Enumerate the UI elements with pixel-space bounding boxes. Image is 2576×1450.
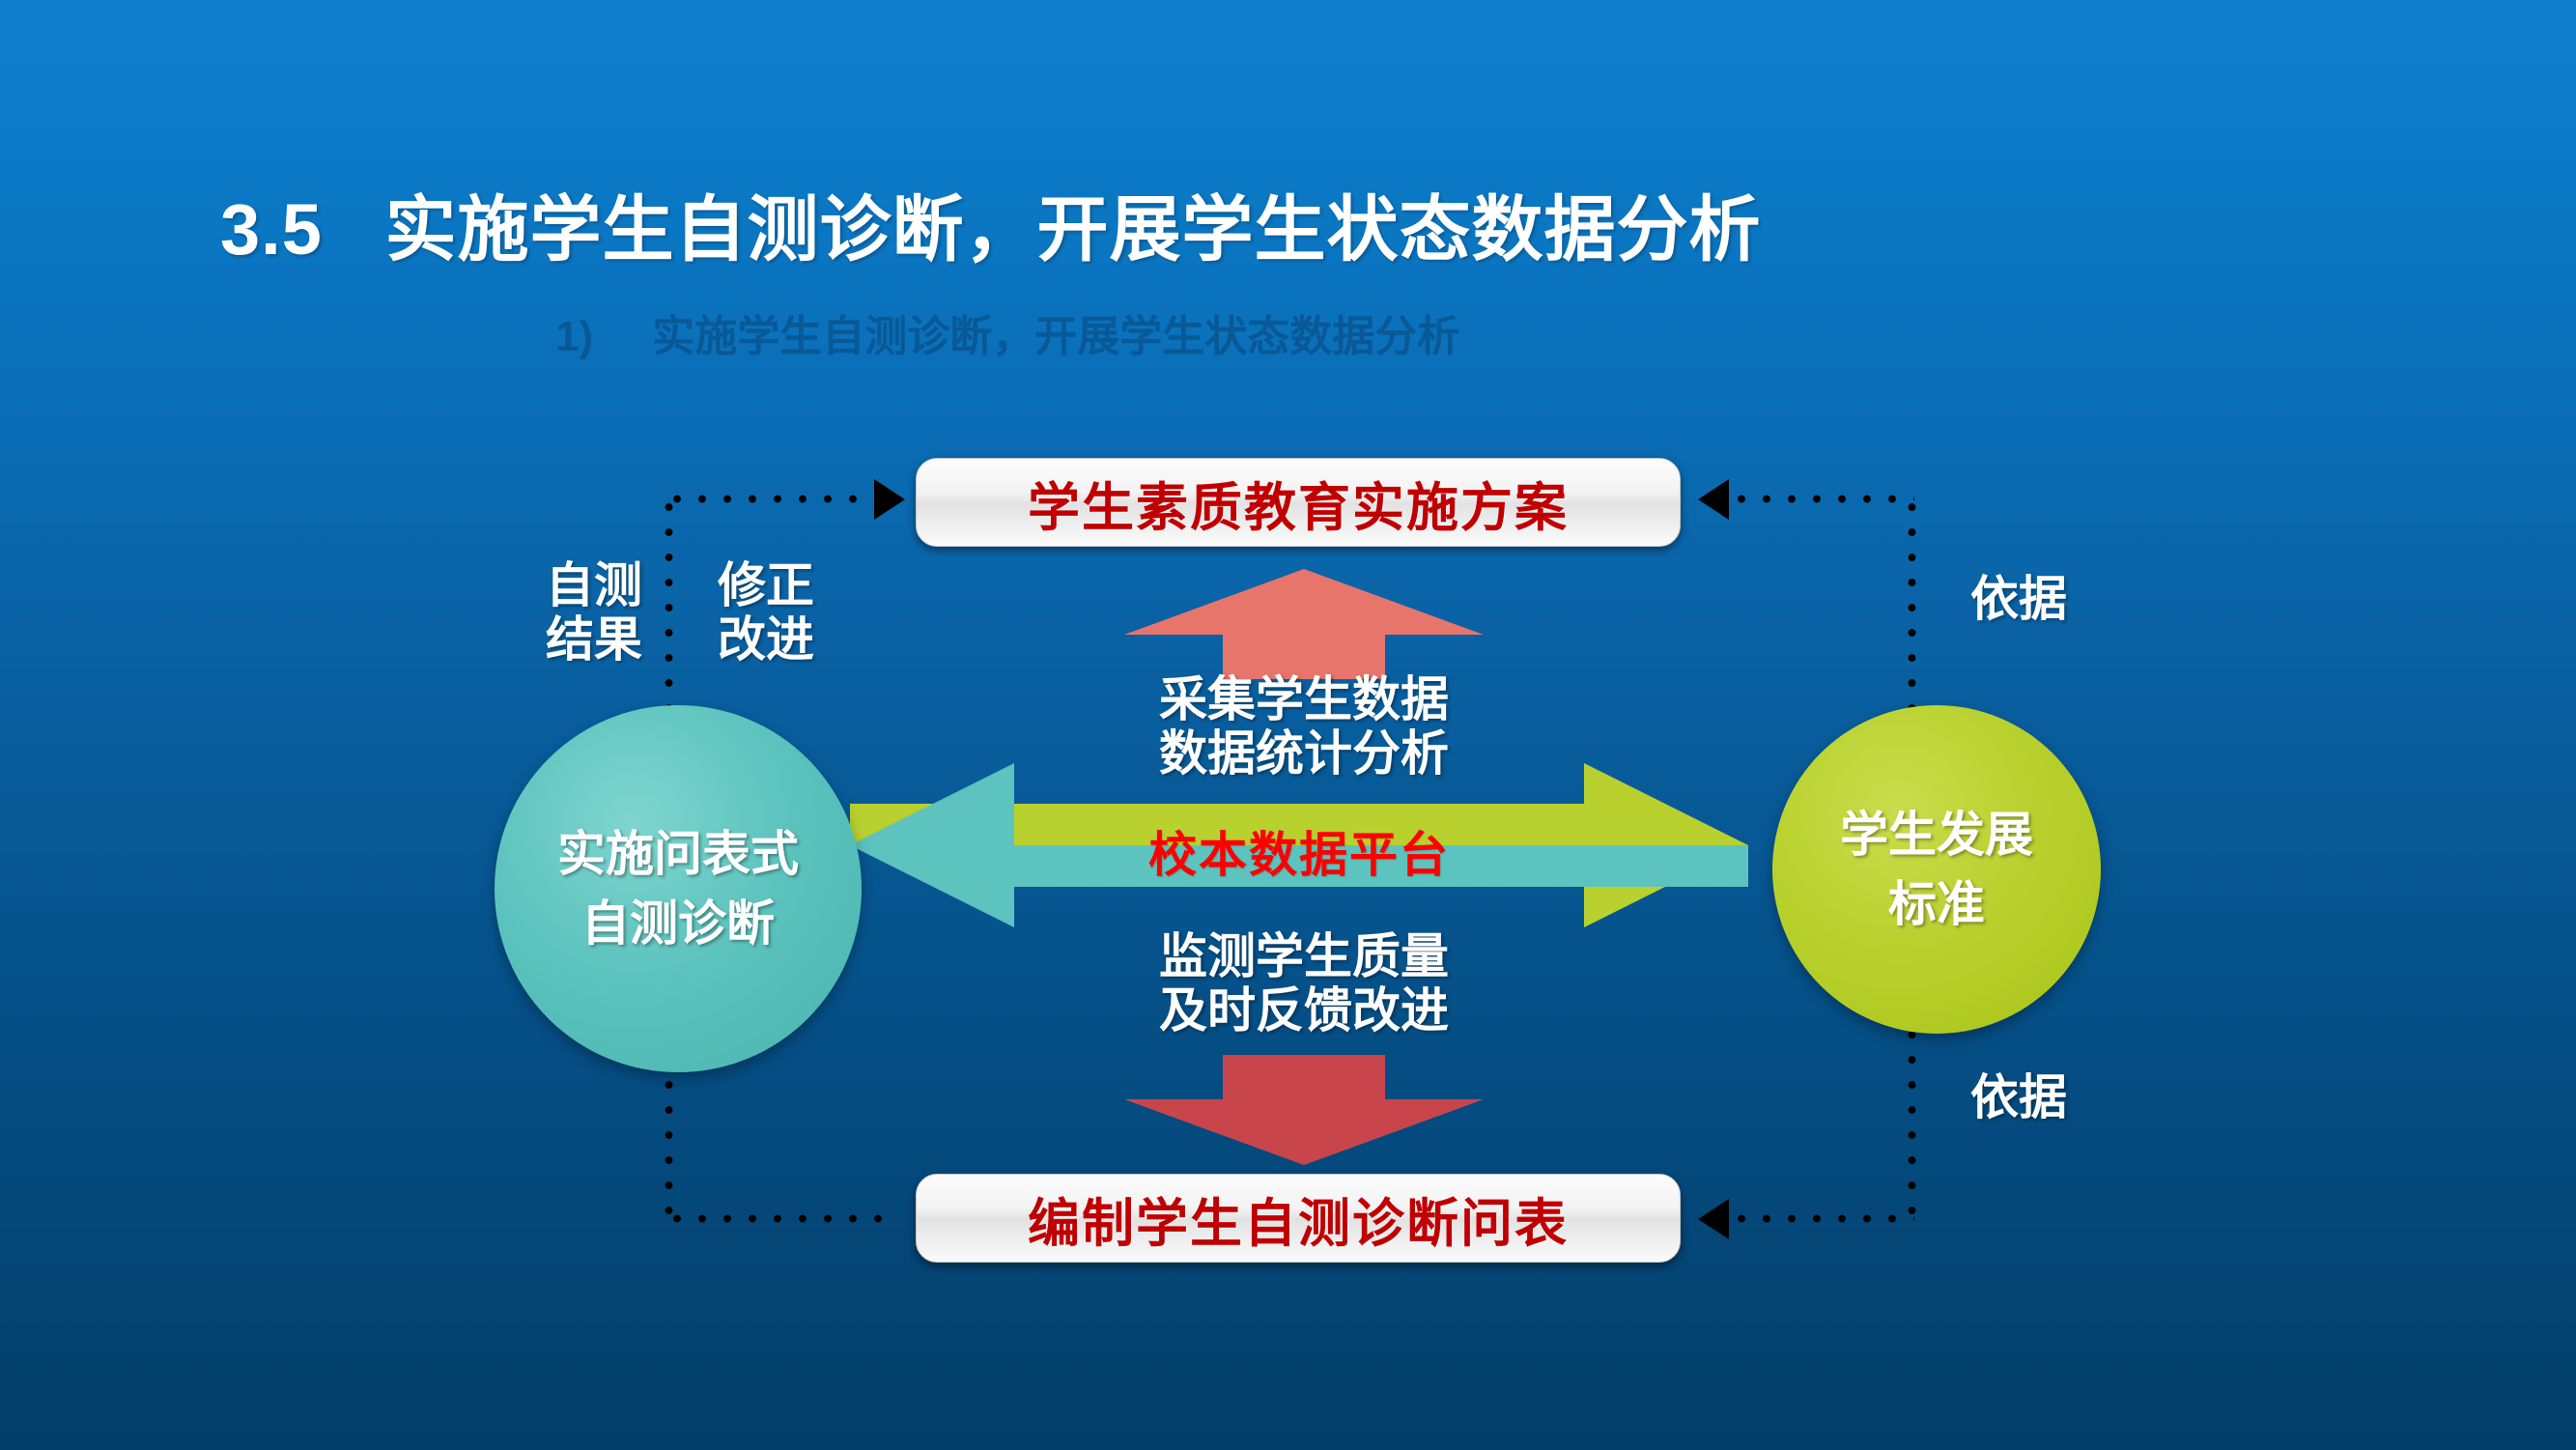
up-block-arrow-wrapper — [1120, 565, 1487, 681]
top-process-box[interactable]: 学生素质教育实施方案 — [916, 458, 1681, 547]
page-title: 3.5 实施学生自测诊断，开展学生状态数据分析 — [220, 172, 1762, 275]
top-process-box-label: 学生素质教育实施方案 — [1028, 465, 1569, 541]
down-arrow-caption: 监测学生质量 及时反馈改进 — [1082, 929, 1526, 1038]
page-subtitle: 1) 实施学生自测诊断，开展学生状态数据分析 — [555, 301, 1459, 363]
label-self-test-result: 自测 结果 — [522, 558, 666, 667]
left-circle-line2: 自测诊断 — [581, 889, 775, 959]
label-basis-lower: 依据 — [1941, 1070, 2096, 1124]
bottom-process-box-label: 编制学生自测诊断问表 — [1028, 1180, 1569, 1257]
dotted-path-bottom-right — [1729, 1214, 1914, 1223]
left-circle-line1: 实施问表式 — [557, 819, 799, 890]
right-circle-line2: 标准 — [1888, 869, 1985, 940]
left-circle-node[interactable]: 实施问表式 自测诊断 — [495, 705, 862, 1072]
platform-label: 校本数据平台 — [1096, 816, 1502, 886]
dotted-arrowhead-top-left — [874, 479, 905, 520]
right-circle-node[interactable]: 学生发展 标准 — [1772, 705, 2101, 1034]
dotted-arrowhead-bottom-right — [1698, 1199, 1729, 1239]
dotted-arrowhead-top-right — [1698, 479, 1729, 520]
right-circle-line1: 学生发展 — [1840, 800, 2033, 870]
label-basis-upper: 依据 — [1941, 572, 2096, 626]
dotted-path-top-right — [1729, 495, 1914, 503]
bottom-process-box[interactable]: 编制学生自测诊断问表 — [916, 1174, 1681, 1263]
up-block-arrow — [1120, 565, 1487, 681]
label-correct-improve: 修正 改进 — [694, 558, 838, 667]
down-block-arrow-wrapper — [1120, 1053, 1487, 1169]
dotted-path-bottom-left — [665, 1214, 887, 1223]
slide-canvas: 3.5 实施学生自测诊断，开展学生状态数据分析 1) 实施学生自测诊断，开展学生… — [0, 0, 2576, 1450]
down-block-arrow — [1120, 1053, 1487, 1169]
dotted-path-top-left — [665, 495, 887, 503]
